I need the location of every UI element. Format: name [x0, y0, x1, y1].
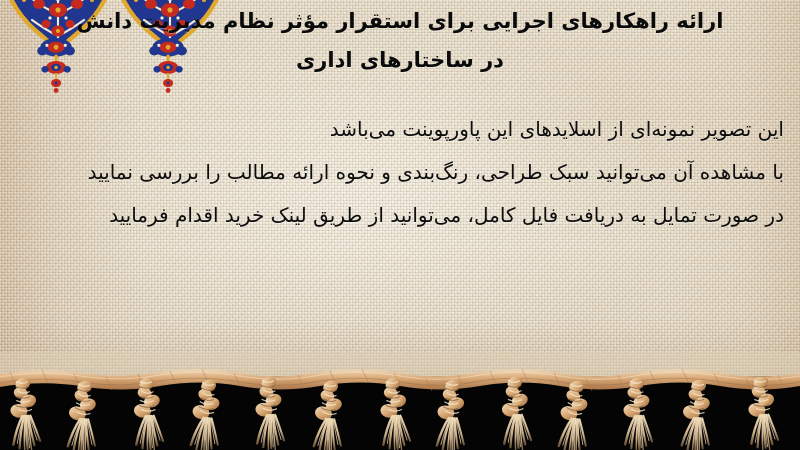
carpet-fringe [0, 352, 800, 450]
slide-body: این تصویر نمونه‌ای از اسلایدهای این پاور… [8, 108, 788, 237]
body-line-2: با مشاهده آن می‌توانید سبک طراحی، رنگ‌بن… [8, 151, 788, 194]
body-line-1: این تصویر نمونه‌ای از اسلایدهای این پاور… [8, 108, 788, 151]
title-line-2: در ساختارهای اداری [0, 41, 800, 80]
fringe-artwork [0, 352, 800, 450]
title-line-1: ارائه راهکارهای اجرایی برای استقرار مؤثر… [0, 2, 800, 41]
body-line-3: در صورت تمایل به دریافت فایل کامل، می‌تو… [8, 194, 788, 237]
slide-canvas: ارائه راهکارهای اجرایی برای استقرار مؤثر… [0, 0, 800, 450]
slide-title: ارائه راهکارهای اجرایی برای استقرار مؤثر… [0, 2, 800, 80]
